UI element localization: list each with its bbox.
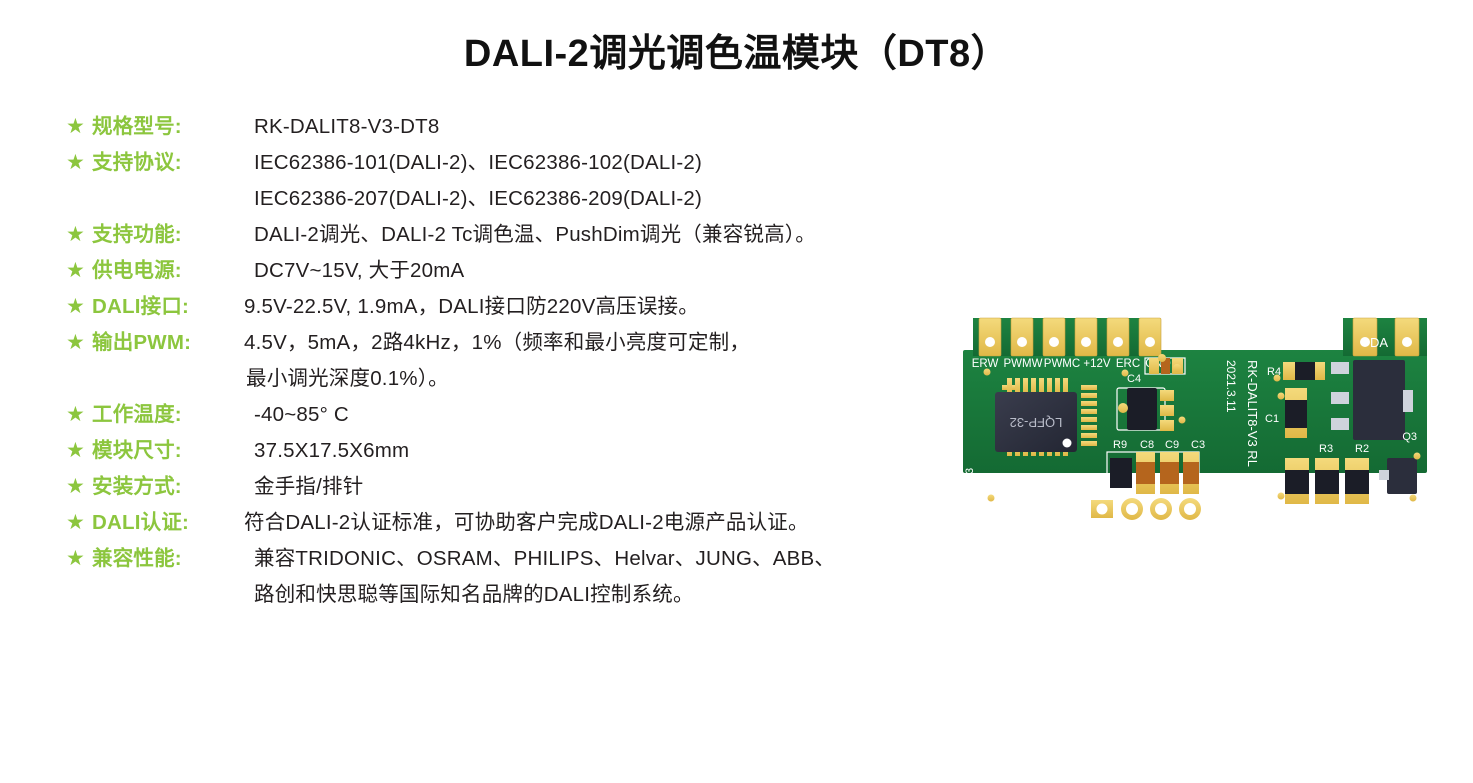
product-photo-pcb: DA ERW PWMW PWMC +12V ERC GND [955,300,1435,550]
pcb-marking-line1: RK-DALIT8-V3 RL [1245,360,1260,467]
spec-value: 金手指/排针 [210,472,966,502]
svg-text:ERC: ERC [1116,358,1140,370]
spec-row-functions: ★ 支持功能: DALI-2调光、DALI-2 Tc调色温、PushDim调光（… [66,220,966,250]
spec-row-pwm-output-continued: 最小调光深度0.1%）。 [66,364,966,394]
indent-spacer [66,184,210,214]
spec-row-power-supply: ★ 供电电源: DC7V~15V, 大于20mA [66,256,966,286]
spec-label: 支持功能: [92,220,210,250]
svg-text:R2: R2 [1355,443,1369,455]
svg-text:+12V: +12V [1083,358,1111,370]
spec-row-operating-temperature: ★ 工作温度: -40~85° C [66,400,966,430]
star-icon: ★ [66,149,92,177]
spec-value: 符合DALI-2认证标准，可协助客户完成DALI-2电源产品认证。 [200,508,966,538]
spec-label: 模块尺寸: [92,436,210,466]
spec-value: 最小调光深度0.1%）。 [210,364,966,394]
polarity-triangle-icon [1203,500,1221,518]
indent-spacer [66,580,210,610]
svg-text:U3: U3 [964,468,976,482]
svg-text:C1: C1 [1265,413,1279,425]
svg-text:PWMW: PWMW [1004,358,1043,370]
star-icon: ★ [66,437,92,465]
svg-text:R9: R9 [1113,439,1127,451]
spec-value: 9.5V-22.5V, 1.9mA，DALI接口防220V高压误接。 [200,292,966,322]
spec-row-pwm-output: ★ 输出PWM: 4.5V，5mA，2路4kHz，1%（频率和最小亮度可定制， [66,328,966,358]
spec-value: DC7V~15V, 大于20mA [210,256,966,286]
spec-value: IEC62386-101(DALI-2)、IEC62386-102(DALI-2… [210,148,966,178]
svg-text:Q3: Q3 [1402,431,1417,443]
spec-label: 支持协议: [92,148,210,178]
spec-label: 安装方式: [92,472,210,502]
svg-text:Q2: Q2 [1387,495,1402,507]
spec-value: -40~85° C [210,400,966,430]
pcb-test-pads [1091,498,1221,520]
svg-text:C4: C4 [1127,373,1141,385]
pcb-pad-label-da: DA [1370,335,1388,350]
spec-value: DALI-2调光、DALI-2 Tc调色温、PushDim调光（兼容锐高）。 [210,220,966,250]
svg-text:PWMC: PWMC [1044,358,1080,370]
pcb-ic-label: LQFP-32 [1010,415,1063,430]
spec-value: 路创和快思聪等国际知名品牌的DALI控制系统。 [210,580,966,610]
pcb-marking-line2: 2021.3.11 [1224,360,1238,413]
indent-spacer [66,364,210,394]
star-icon: ★ [66,257,92,285]
spec-label: 规格型号: [92,112,210,142]
spec-row-dali-interface: ★ DALI接口: 9.5V-22.5V, 1.9mA，DALI接口防220V高… [66,292,966,322]
spec-row-protocols: ★ 支持协议: IEC62386-101(DALI-2)、IEC62386-10… [66,148,966,178]
svg-text:R3: R3 [1319,443,1333,455]
spec-label: 工作温度: [92,400,210,430]
svg-text:ERW: ERW [972,358,999,370]
star-icon: ★ [66,293,92,321]
spec-row-mounting: ★ 安装方式: 金手指/排针 [66,472,966,502]
svg-text:C8: C8 [1140,439,1154,451]
spec-row-compatibility-continued: 路创和快思聪等国际知名品牌的DALI控制系统。 [66,580,966,610]
spec-row-model: ★ 规格型号: RK-DALIT8-V3-DT8 [66,112,966,142]
star-icon: ★ [66,221,92,249]
spec-value: 37.5X17.5X6mm [210,436,966,466]
star-icon: ★ [66,545,92,573]
spec-label: 兼容性能: [92,544,210,574]
page-title: DALI-2调光调色温模块（DT8） [0,22,1473,77]
star-icon: ★ [66,473,92,501]
svg-text:C3: C3 [1191,439,1205,451]
spec-row-dali-certification: ★ DALI认证: 符合DALI-2认证标准，可协助客户完成DALI-2电源产品… [66,508,966,538]
spec-row-compatibility: ★ 兼容性能: 兼容TRIDONIC、OSRAM、PHILIPS、Helvar、… [66,544,966,574]
spec-value: RK-DALIT8-V3-DT8 [210,112,966,142]
star-icon: ★ [66,401,92,429]
star-icon: ★ [66,329,92,357]
star-icon: ★ [66,113,92,141]
spec-value: 4.5V，5mA，2路4kHz，1%（频率和最小亮度可定制， [200,328,966,358]
spec-value: IEC62386-207(DALI-2)、IEC62386-209(DALI-2… [210,184,966,214]
spec-row-protocols-continued: IEC62386-207(DALI-2)、IEC62386-209(DALI-2… [66,184,966,214]
spec-row-module-size: ★ 模块尺寸: 37.5X17.5X6mm [66,436,966,466]
svg-text:U4: U4 [1085,476,1099,488]
star-icon: ★ [66,509,92,537]
spec-label: 供电电源: [92,256,210,286]
spec-value: 兼容TRIDONIC、OSRAM、PHILIPS、Helvar、JUNG、ABB… [210,544,966,574]
svg-text:C9: C9 [1165,439,1179,451]
specification-list: ★ 规格型号: RK-DALIT8-V3-DT8 ★ 支持协议: IEC6238… [66,112,966,616]
